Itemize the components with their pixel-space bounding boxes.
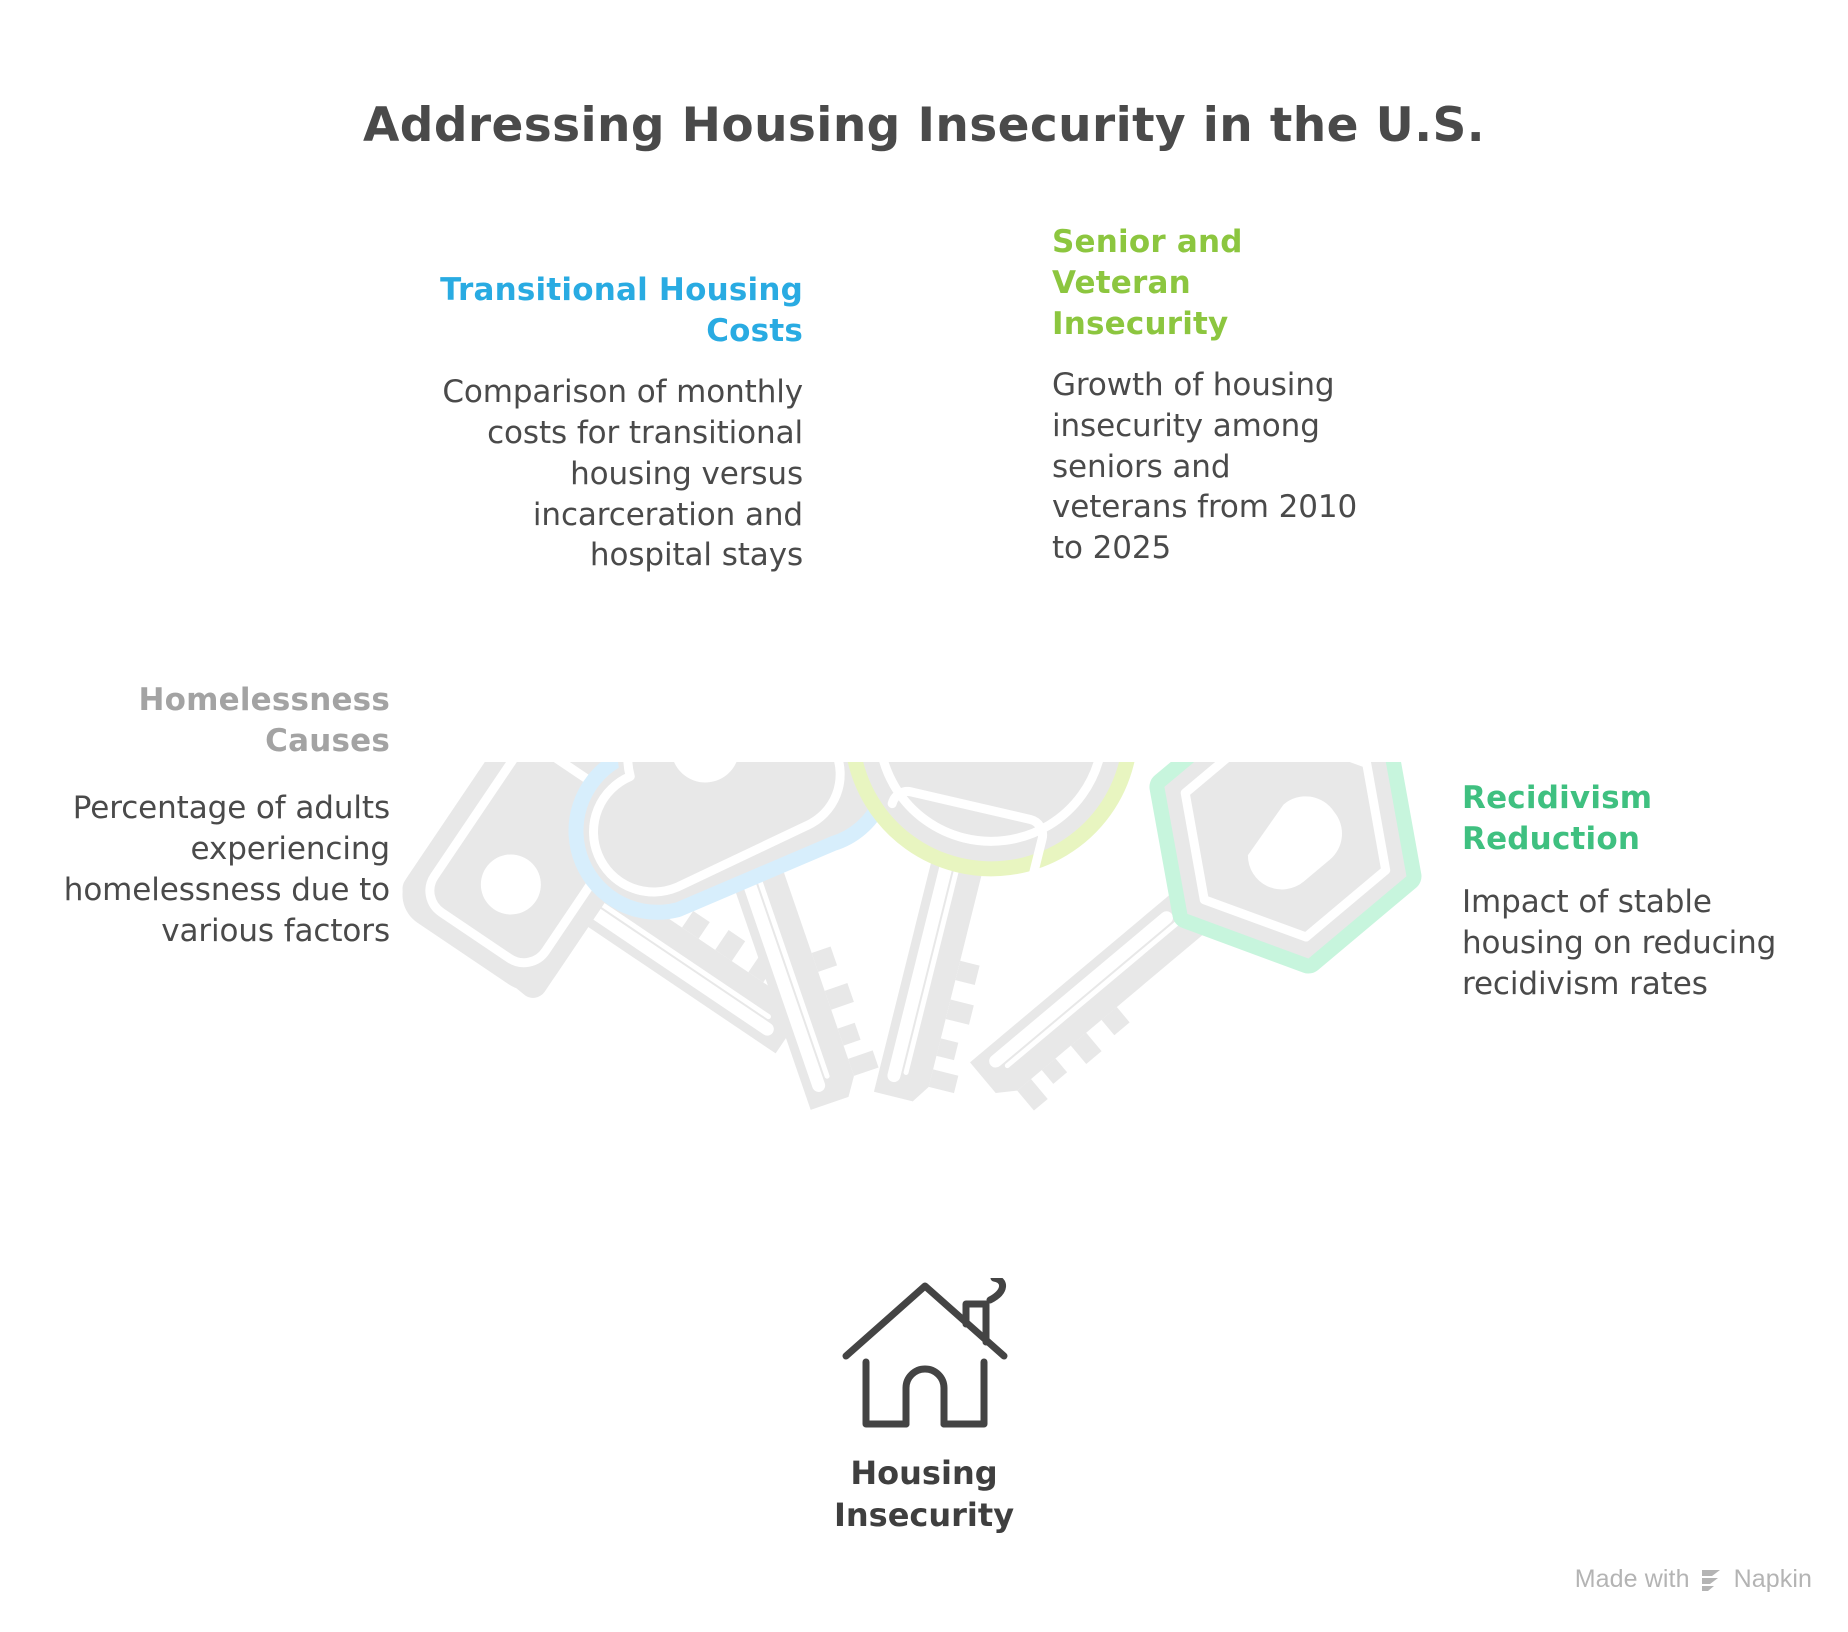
branch-heading-senior-veteran-insecurity: Senior and Veteran Insecurity bbox=[1052, 222, 1362, 345]
page-title: Addressing Housing Insecurity in the U.S… bbox=[0, 98, 1848, 153]
branch-transitional-housing-costs: Transitional Housing Costs Comparison of… bbox=[410, 270, 803, 576]
branch-body-homelessness-causes: Percentage of adults experiencing homele… bbox=[60, 788, 390, 952]
branch-body-senior-veteran-insecurity: Growth of housing insecurity among senio… bbox=[1052, 365, 1362, 570]
napkin-watermark: Made with Napkin bbox=[1575, 1565, 1812, 1594]
infographic-canvas: Addressing Housing Insecurity in the U.S… bbox=[0, 0, 1848, 1632]
branch-senior-veteran-insecurity: Senior and Veteran Insecurity Growth of … bbox=[1052, 222, 1362, 569]
napkin-logo-icon bbox=[1699, 1567, 1725, 1593]
hub-label: Housing Insecurity bbox=[724, 1452, 1124, 1536]
branch-heading-homelessness-causes: Homelessness Causes bbox=[60, 680, 390, 762]
branch-body-transitional-housing-costs: Comparison of monthly costs for transiti… bbox=[410, 372, 803, 577]
keys-illustration bbox=[392, 762, 1456, 1322]
watermark-brand: Napkin bbox=[1734, 1565, 1812, 1594]
branch-heading-recidivism-reduction: Recidivism Reduction bbox=[1462, 778, 1807, 860]
hub-label-line2: Insecurity bbox=[834, 1496, 1014, 1534]
branch-recidivism-reduction: Recidivism Reduction Impact of stable ho… bbox=[1462, 778, 1807, 1005]
hub-label-line1: Housing bbox=[850, 1454, 997, 1492]
branch-body-recidivism-reduction: Impact of stable housing on reducing rec… bbox=[1462, 882, 1807, 1005]
watermark-text: Made with bbox=[1575, 1565, 1690, 1594]
branch-heading-transitional-housing-costs: Transitional Housing Costs bbox=[410, 270, 803, 352]
house-icon bbox=[830, 1278, 1020, 1438]
branch-homelessness-causes: Homelessness Causes Percentage of adults… bbox=[60, 680, 390, 951]
